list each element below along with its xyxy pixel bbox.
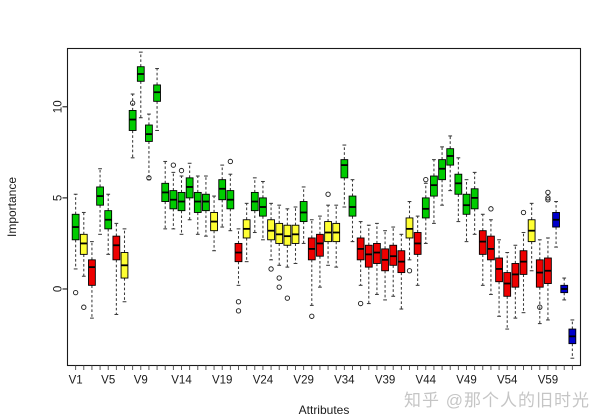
- box-body: [479, 231, 486, 255]
- box-body: [422, 198, 429, 218]
- plot-frame: [68, 49, 581, 366]
- box-body: [504, 273, 511, 297]
- box-outlier: [179, 168, 183, 172]
- box-body: [194, 192, 201, 212]
- x-axis-tick-label: V54: [497, 375, 518, 387]
- box-outlier: [521, 210, 525, 214]
- box-body: [300, 202, 307, 222]
- box-outlier: [424, 177, 428, 181]
- box-outlier: [236, 309, 240, 313]
- box-body: [113, 236, 120, 260]
- box-body: [154, 85, 161, 101]
- box-body: [365, 245, 372, 267]
- x-axis-tick-label: V5: [101, 375, 115, 387]
- x-axis-tick-label: V24: [253, 375, 274, 387]
- box-body: [447, 149, 454, 165]
- box-body: [325, 222, 332, 242]
- box-body: [431, 176, 438, 196]
- box-body: [374, 243, 381, 263]
- box-outlier: [73, 290, 77, 294]
- box-body: [317, 234, 324, 256]
- box-body: [406, 218, 413, 238]
- x-axis-tick-label: V39: [375, 375, 395, 387]
- box-outlier: [277, 285, 281, 289]
- box-body: [455, 174, 462, 194]
- box-body: [284, 225, 291, 245]
- y-axis-tick-label: 0: [53, 286, 65, 292]
- box-body: [496, 258, 503, 282]
- box-body: [146, 125, 153, 141]
- box-body: [341, 160, 348, 178]
- box-outlier: [358, 301, 362, 305]
- x-axis-tick-label: V34: [334, 375, 355, 387]
- y-axis-title: Importance: [5, 177, 19, 237]
- x-axis-title: Attributes: [299, 403, 350, 417]
- box-outlier: [546, 190, 550, 194]
- box-body: [512, 263, 519, 287]
- box-body: [390, 245, 397, 265]
- box-outlier: [171, 163, 175, 167]
- x-axis-tick-label: V59: [538, 375, 558, 387]
- box-body: [219, 180, 226, 200]
- y-axis-tick-label: 10: [53, 100, 65, 113]
- box-body: [80, 234, 87, 254]
- box-body: [203, 194, 210, 210]
- box-outlier: [310, 314, 314, 318]
- box-body: [129, 110, 136, 130]
- y-axis-tick-label: 5: [53, 195, 65, 201]
- x-axis-tick-label: V29: [293, 375, 313, 387]
- box-body: [268, 220, 275, 240]
- box-body: [349, 196, 356, 216]
- box-body: [488, 236, 495, 260]
- box-outlier: [489, 207, 493, 211]
- x-axis-tick-label: V19: [212, 375, 232, 387]
- box-body: [276, 223, 283, 243]
- x-axis-tick-label: V1: [69, 375, 83, 387]
- box-outlier: [285, 296, 289, 300]
- box-body: [520, 251, 527, 275]
- box-outlier: [326, 192, 330, 196]
- box-body: [439, 160, 446, 180]
- box-outlier: [277, 276, 281, 280]
- box-outlier: [228, 159, 232, 163]
- box-outlier: [269, 267, 273, 271]
- boxplot-figure: 0510V1V5V9V14V19V24V29V34V39V44V49V54V59…: [0, 0, 600, 419]
- box-outlier: [82, 305, 86, 309]
- box-body: [463, 194, 470, 214]
- box-body: [186, 178, 193, 198]
- x-axis-tick-label: V49: [456, 375, 476, 387]
- x-axis-tick-label: V14: [171, 375, 192, 387]
- box-outlier: [407, 269, 411, 273]
- box-body: [89, 260, 96, 286]
- box-outlier: [236, 300, 240, 304]
- plot-svg: 0510V1V5V9V14V19V24V29V34V39V44V49V54V59…: [0, 0, 600, 419]
- x-axis-tick-label: V44: [416, 375, 437, 387]
- x-axis-tick-label: V9: [134, 375, 148, 387]
- box-body: [471, 189, 478, 209]
- box-body: [536, 260, 543, 287]
